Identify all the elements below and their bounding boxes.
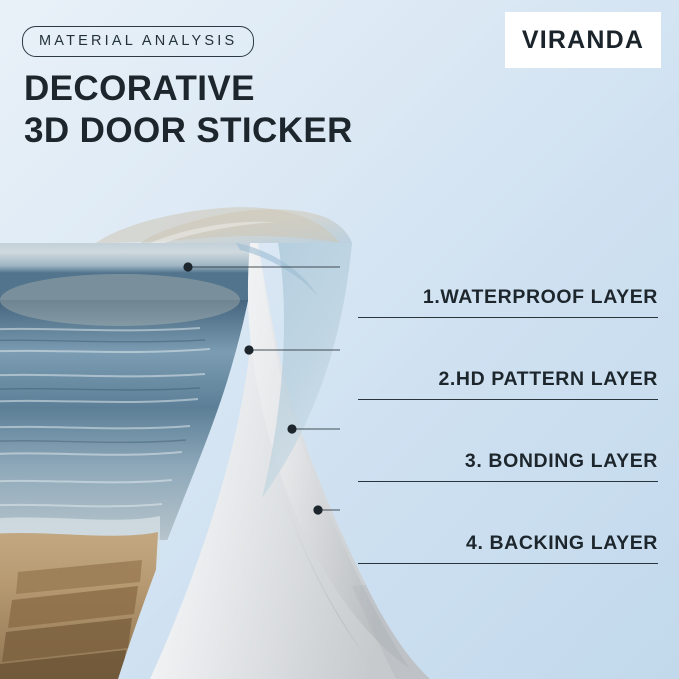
layer-label-row-4: 4. BACKING LAYER <box>340 482 658 564</box>
layer-label-bonding: 3. BONDING LAYER <box>465 450 658 473</box>
layer-label-hd-pattern: 2.HD PATTERN LAYER <box>438 368 658 391</box>
eyebrow-badge: MATERIAL ANALYSIS <box>22 26 254 57</box>
page-title: DECORATIVE 3D DOOR STICKER <box>24 68 353 152</box>
layer-label-row-1: 1.WATERPROOF LAYER <box>340 236 658 318</box>
label-rule-4 <box>358 563 658 564</box>
layer-label-row-2: 2.HD PATTERN LAYER <box>340 318 658 400</box>
brand-logo-box: VIRANDA <box>505 12 661 68</box>
poster-canvas: MATERIAL ANALYSIS DECORATIVE 3D DOOR STI… <box>0 0 679 679</box>
eyebrow-text: MATERIAL ANALYSIS <box>39 33 237 49</box>
title-line-2: 3D DOOR STICKER <box>24 110 353 152</box>
layer-label-row-3: 3. BONDING LAYER <box>340 400 658 482</box>
layer-label-waterproof: 1.WATERPROOF LAYER <box>423 286 658 309</box>
layer-label-backing: 4. BACKING LAYER <box>466 532 658 555</box>
layer-label-list: 1.WATERPROOF LAYER 2.HD PATTERN LAYER 3.… <box>340 236 658 564</box>
title-line-1: DECORATIVE <box>24 68 353 110</box>
brand-name: VIRANDA <box>522 26 644 55</box>
